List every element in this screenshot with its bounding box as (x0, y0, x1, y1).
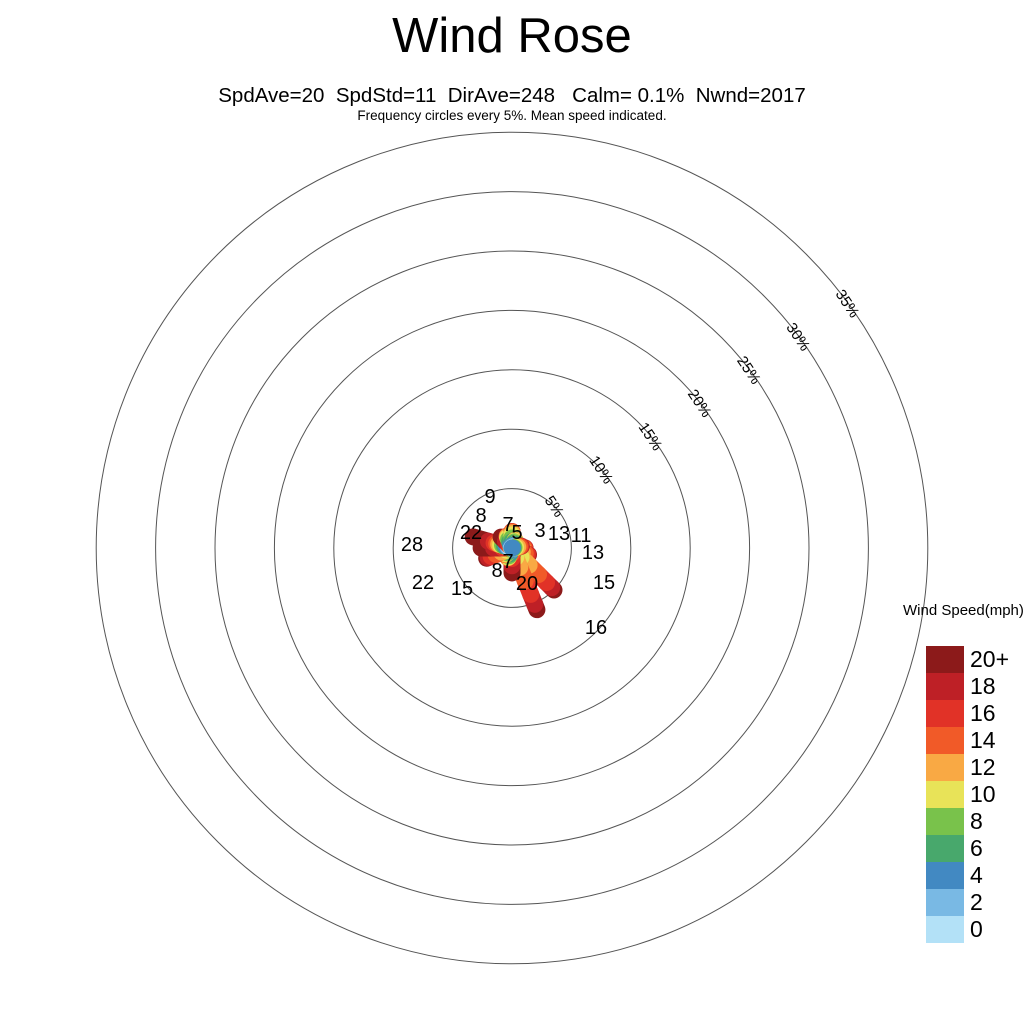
legend-title: Wind Speed(mph) (903, 602, 1024, 619)
wind-rose-page: Wind Rose SpdAve=20 SpdStd=11 DirAve=248… (0, 0, 1024, 1024)
legend-color-swatch (926, 700, 964, 727)
legend-color-swatch (926, 754, 964, 781)
petal-mean-speed-labels: 111315162078152228228975313 (401, 486, 615, 639)
legend-row: 6 (926, 835, 964, 862)
petal-mean-speed-label: 28 (401, 534, 423, 556)
legend-color-swatch (926, 916, 964, 943)
ring-percent-label: 25% (733, 353, 764, 387)
petal-mean-speed-label: 15 (593, 572, 615, 594)
legend-row: 0 (926, 916, 964, 943)
legend-row: 8 (926, 808, 964, 835)
legend-label: 2 (970, 889, 983, 916)
legend-color-swatch (926, 889, 964, 916)
petal-mean-speed-label: 22 (412, 572, 434, 594)
legend-label: 8 (970, 808, 983, 835)
legend-color-swatch (926, 808, 964, 835)
legend-row: 2 (926, 889, 964, 916)
petal-mean-speed-label: 9 (484, 486, 495, 508)
legend-color-swatch (926, 646, 964, 673)
legend-color-swatch (926, 727, 964, 754)
petal-mean-speed-label: 7 (502, 551, 513, 573)
legend-label: 0 (970, 916, 983, 943)
legend-label: 16 (970, 700, 996, 727)
legend-row: 14 (926, 727, 964, 754)
petal-mean-speed-label: 16 (585, 617, 607, 639)
legend-row: 4 (926, 862, 964, 889)
petal-mean-speed-label: 5 (511, 522, 522, 544)
petal-mean-speed-label: 3 (534, 520, 545, 542)
petal-mean-speed-label: 8 (491, 560, 502, 582)
petal-mean-speed-label: 13 (548, 523, 570, 545)
legend-row: 20+ (926, 646, 964, 673)
ring-percent-label: 15% (635, 420, 666, 454)
legend-label: 12 (970, 754, 996, 781)
ring-percent-label: 20% (684, 386, 715, 420)
legend-row: 12 (926, 754, 964, 781)
wind-rose-plot: 5%10%15%20%25%30%35% 1113151620781522282… (0, 0, 1024, 1024)
legend-label: 4 (970, 862, 983, 889)
wind-petal (512, 546, 521, 548)
ring-percent-label: 30% (782, 320, 813, 354)
petal-mean-speed-label: 8 (475, 505, 486, 527)
legend-label: 10 (970, 781, 996, 808)
wind-speed-legend: 20+181614121086420 (926, 646, 964, 943)
legend-label: 6 (970, 835, 983, 862)
petal-mean-speed-label: 13 (582, 542, 604, 564)
ring-percent-labels: 5%10%15%20%25%30%35% (541, 287, 863, 521)
legend-label: 20+ (970, 646, 1009, 673)
legend-label: 18 (970, 673, 996, 700)
legend-label: 14 (970, 727, 996, 754)
legend-color-swatch (926, 835, 964, 862)
legend-row: 16 (926, 700, 964, 727)
legend-color-swatch (926, 781, 964, 808)
legend-row: 10 (926, 781, 964, 808)
legend-color-swatch (926, 862, 964, 889)
petal-mean-speed-label: 20 (516, 573, 538, 595)
ring-percent-label: 35% (832, 287, 863, 321)
legend-row: 18 (926, 673, 964, 700)
legend-color-swatch (926, 673, 964, 700)
ring-percent-label: 5% (541, 493, 567, 520)
petal-mean-speed-label: 15 (451, 578, 473, 600)
